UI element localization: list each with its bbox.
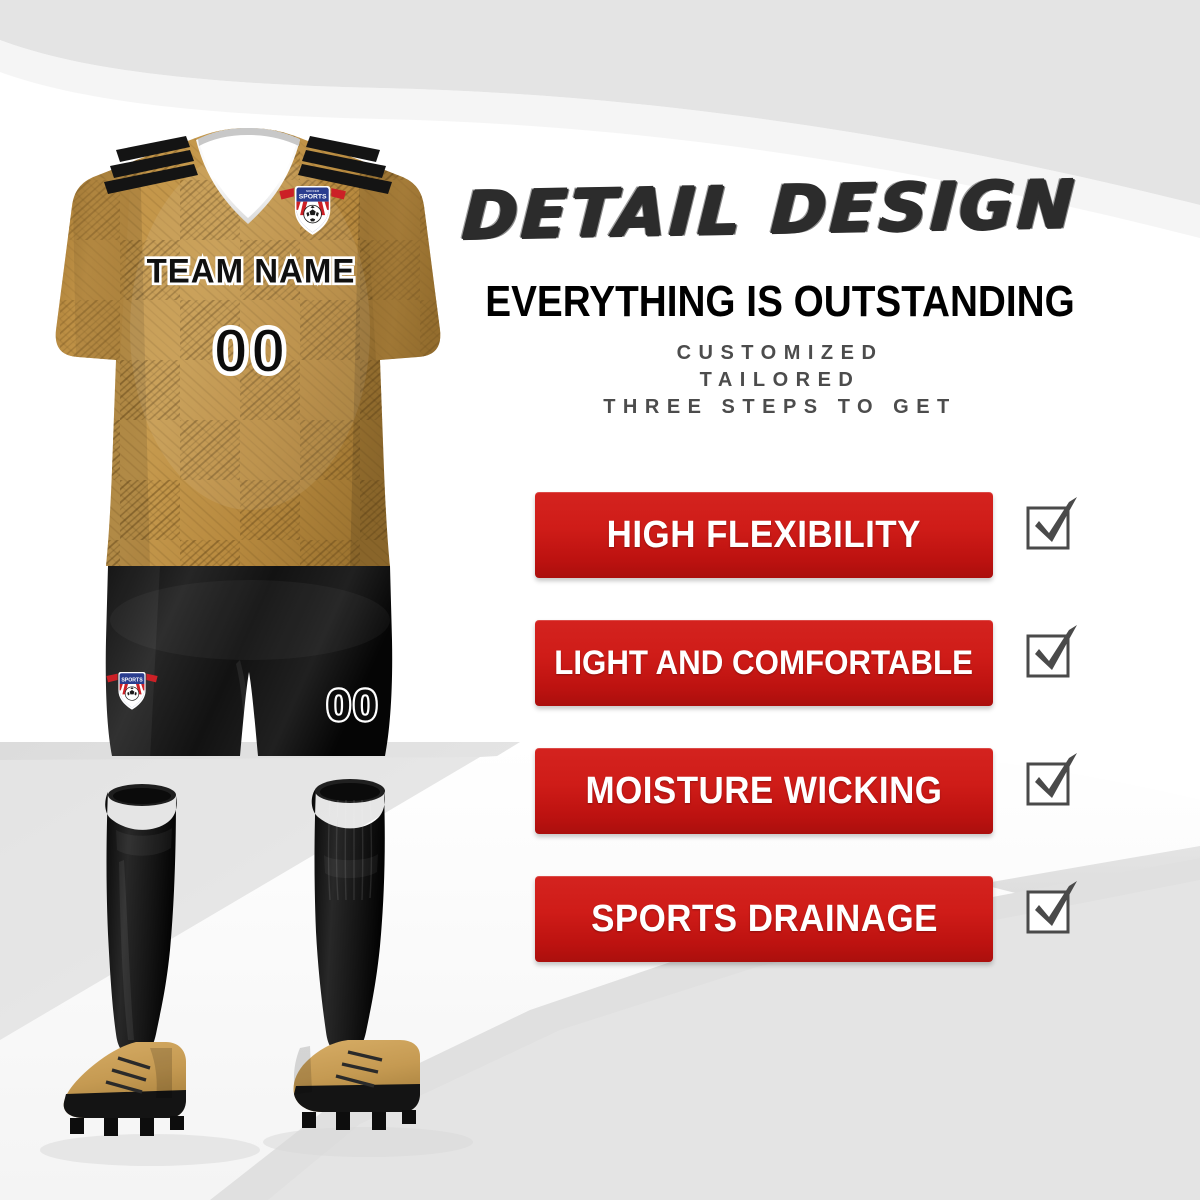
sock-right — [312, 788, 385, 1054]
feature-label: HIGH FLEXIBILITY — [607, 514, 921, 557]
checkbox-checked-icon[interactable] — [1025, 622, 1079, 682]
feature-label: MOISTURE WICKING — [586, 770, 943, 813]
page-title: DETAIL DESIGN — [438, 172, 1102, 251]
cleat-right — [294, 1040, 421, 1130]
feature-banner-light-and-comfortable[interactable]: LIGHT AND COMFORTABLE — [535, 620, 993, 706]
checkbox-checked-icon[interactable] — [1025, 878, 1079, 938]
checkbox-checked-icon[interactable] — [1025, 494, 1079, 554]
uniform-product-illustration: SPORTS SOCCER TEAM NAME 00 00 — [0, 0, 500, 1200]
svg-text:SPORTS: SPORTS — [121, 678, 143, 684]
cleats — [64, 1040, 420, 1136]
feature-banner-sports-drainage[interactable]: SPORTS DRAINAGE — [535, 876, 993, 962]
feature-row: SPORTS DRAINAGE — [440, 876, 1200, 1004]
feature-label: SPORTS DRAINAGE — [591, 898, 938, 941]
tagline-2: TAILORED — [440, 367, 1120, 394]
jersey-right-sleeve — [366, 176, 440, 360]
jersey-team-name: TEAM NAME — [147, 252, 356, 291]
feature-label: LIGHT AND COMFORTABLE — [555, 644, 974, 683]
marketing-content: DETAIL DESIGN EVERYTHING IS OUTSTANDING … — [440, 0, 1200, 1200]
feature-row: MOISTURE WICKING — [440, 748, 1200, 876]
feature-row: LIGHT AND COMFORTABLE — [440, 620, 1200, 748]
feature-list: HIGH FLEXIBILITY LIGHT AND COMFORTABLE M… — [440, 492, 1200, 1004]
svg-text:00: 00 — [214, 317, 289, 386]
svg-text:SOCCER: SOCCER — [306, 189, 320, 193]
feature-banner-moisture-wicking[interactable]: MOISTURE WICKING — [535, 748, 993, 834]
tagline-group: CUSTOMIZED TAILORED THREE STEPS TO GET — [440, 340, 1120, 421]
shorts-number: 00 — [327, 681, 380, 730]
tagline-3: THREE STEPS TO GET — [440, 394, 1120, 421]
page-subtitle: EVERYTHING IS OUTSTANDING — [481, 279, 1079, 325]
socks — [105, 779, 385, 1056]
feature-row: HIGH FLEXIBILITY — [440, 492, 1200, 620]
jersey: SPORTS SOCCER TEAM NAME 00 00 — [0, 100, 500, 600]
shorts: SPORTS 00 — [100, 566, 392, 760]
tagline-1: CUSTOMIZED — [440, 340, 1120, 367]
feature-banner-high-flexibility[interactable]: HIGH FLEXIBILITY — [535, 492, 993, 578]
cleat-left — [64, 1042, 186, 1136]
checkbox-checked-icon[interactable] — [1025, 750, 1079, 810]
svg-text:SPORTS: SPORTS — [299, 193, 327, 200]
jersey-left-sleeve — [56, 176, 130, 360]
